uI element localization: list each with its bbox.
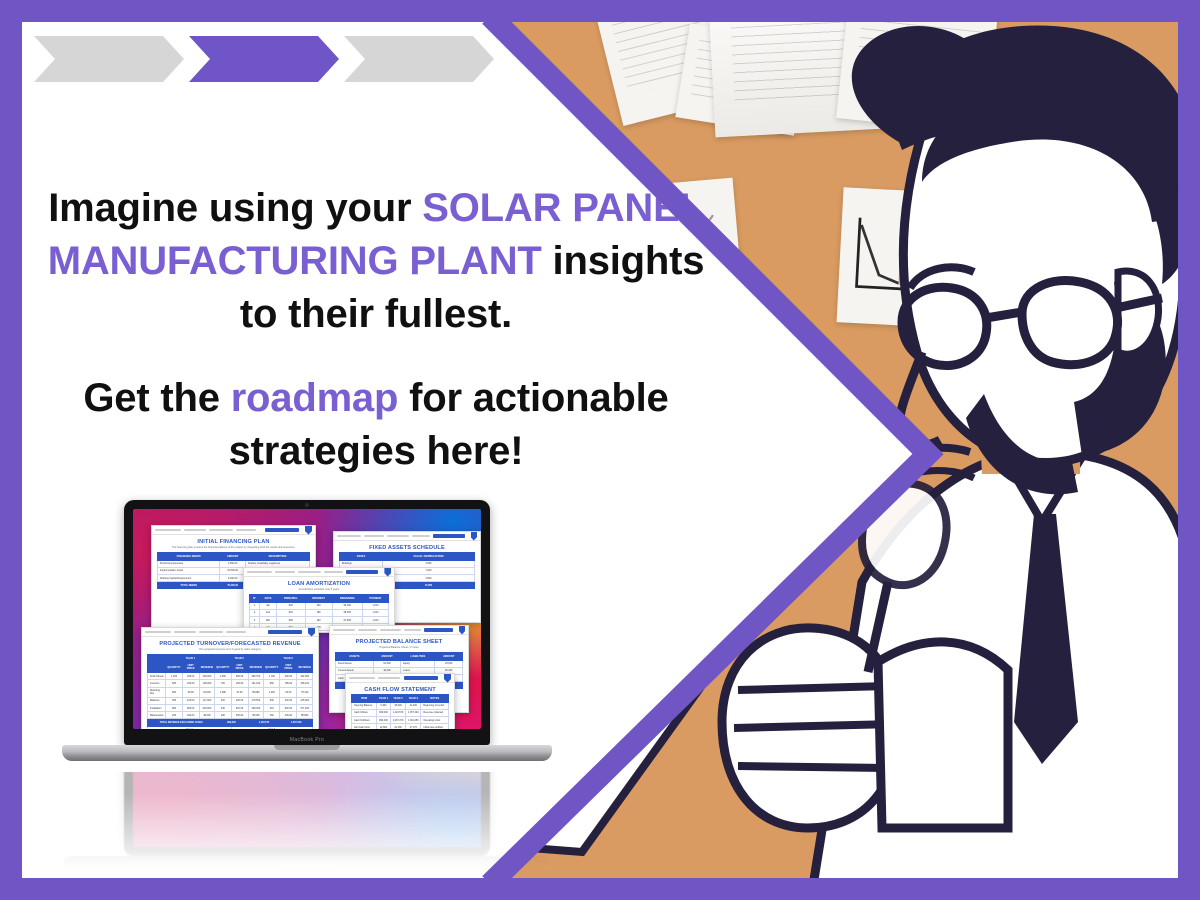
- table-row: Cash Inflows909,000 1,119,5701,357,220 R…: [352, 709, 449, 716]
- sheet-toolbar: [346, 674, 454, 683]
- shield-icon: [384, 568, 391, 577]
- shield-icon: [305, 526, 312, 535]
- sheet-title: FIXED ASSETS SCHEDULE: [334, 541, 480, 552]
- table-row: Net Cash Flow12,600 22,30047,170 Inflow …: [352, 724, 449, 729]
- headline-highlight-roadmap: roadmap: [231, 376, 399, 420]
- table-row: Maintenance150320.0048,000 200325.0065,0…: [148, 712, 313, 719]
- progress-step-2-active[interactable]: [189, 36, 339, 82]
- shield-icon: [459, 626, 465, 635]
- laptop-base: [62, 745, 552, 761]
- column-header: DATE: [260, 595, 277, 603]
- column-header: N°: [250, 595, 260, 603]
- laptop-screen: INITIAL FINANCING PLAN The financing pla…: [133, 509, 481, 729]
- shield-icon: [471, 532, 477, 541]
- headline-part-4a: Get the: [83, 376, 230, 420]
- shield-icon: [308, 628, 315, 637]
- column-header: INTEREST: [305, 595, 332, 603]
- column-header: VALUE / DEPRECIATION: [382, 553, 474, 561]
- reflection-base: [62, 856, 552, 872]
- sheet-title: LOAN AMORTIZATION: [244, 577, 394, 588]
- sheet-toolbar: [244, 568, 394, 577]
- sheet-table: YEAR 1 YEAR 2 YEAR 3 QUANTITYUNIT PRICER…: [147, 654, 313, 729]
- sheet-title: PROJECTED BALANCE SHEET: [330, 635, 468, 646]
- table-row: Year 1 Year 3: [148, 726, 313, 729]
- table-row: Solar Panels1,200250.00300,000 1,450255.…: [148, 673, 313, 680]
- slide-canvas: Imagine using your SOLAR PANEL MANUFACTU…: [0, 0, 1200, 900]
- sheet-title: PROJECTED TURNOVER/FORECASTED REVENUE: [142, 637, 318, 648]
- sheet-toolbar: [142, 628, 318, 637]
- table-row: Fixed Assets61,500 Equity25,000: [336, 660, 463, 667]
- column-header: PAYMENT: [362, 595, 388, 603]
- column-header: REMAINING: [332, 595, 362, 603]
- column-header: FINANCING NEEDS: [158, 553, 220, 561]
- column-header: DESCRIPTION: [245, 553, 309, 561]
- webcam-icon: [305, 503, 309, 507]
- headline: Imagine using your SOLAR PANEL MANUFACTU…: [40, 182, 712, 478]
- sheet-table: ITEMYEAR 1 YEAR 2YEAR 3 NOTES Opening Ba…: [351, 694, 449, 729]
- column-group-header: YEAR 1: [166, 655, 215, 663]
- sheet-title: INITIAL FINANCING PLAN: [152, 535, 315, 546]
- laptop-bezel: INITIAL FINANCING PLAN The financing pla…: [124, 500, 490, 745]
- sheet-cash-flow-statement[interactable]: CASH FLOW STATEMENT ITEMYEAR 1 YEAR 2YEA…: [345, 673, 455, 729]
- table-row: Cash Outflows896,400 1,097,2701,310,050 …: [352, 716, 449, 723]
- table-row: 3Mar 828182 57,5281,010: [250, 616, 389, 623]
- laptop-reflection: [62, 772, 552, 872]
- sheet-projected-turnover[interactable]: PROJECTED TURNOVER/FORECASTED REVENUE Th…: [141, 627, 319, 729]
- laptop-mockup: INITIAL FINANCING PLAN The financing pla…: [62, 500, 552, 870]
- table-row: 2Feb 824186 58,3561,010: [250, 609, 389, 616]
- sheet-toolbar: [330, 626, 468, 635]
- headline-highlight-solar: SOLAR: [422, 186, 561, 230]
- column-header: AMOUNT: [220, 553, 246, 561]
- column-group-header: YEAR 2: [215, 655, 264, 663]
- table-row: Opening Balance6,300 18,90041,200 Beginn…: [352, 702, 449, 709]
- column-header: ASSET: [340, 553, 383, 561]
- headline-part-1: Imagine using your: [48, 186, 422, 230]
- table-row: Batteries350420.00147,000 420425.00178,5…: [148, 697, 313, 704]
- laptop-lid: INITIAL FINANCING PLAN The financing pla…: [124, 500, 490, 745]
- content-area: Imagine using your SOLAR PANEL MANUFACTU…: [22, 22, 722, 878]
- progress-chevrons: [34, 36, 494, 82]
- table-row: Inverters600180.00108,000 720182.00131,0…: [148, 680, 313, 687]
- column-header: PRINCIPAL: [276, 595, 305, 603]
- progress-step-3[interactable]: [344, 36, 494, 82]
- sheet-loan-amortization[interactable]: LOAN AMORTIZATION Amortization schedule …: [243, 567, 395, 633]
- sheet-title: CASH FLOW STATEMENT: [346, 683, 454, 694]
- table-row: Mounting Kits90060.0054,000 1,08061.0065…: [148, 687, 313, 697]
- column-group-header: YEAR 3: [264, 655, 313, 663]
- sheet-toolbar: [334, 532, 480, 541]
- shield-icon: [444, 674, 451, 683]
- laptop-model-label: MacBook Pro: [124, 737, 490, 743]
- progress-step-1[interactable]: [34, 36, 184, 82]
- table-total-row: TOTAL REVENUE EXCLUDING TAXES 909,000 1,…: [148, 719, 313, 726]
- table-row: 1Jan 820190 59,1801,010: [250, 602, 389, 609]
- table-row: Installation280900.00252,000 340910.0030…: [148, 704, 313, 711]
- sheet-toolbar: [152, 526, 315, 535]
